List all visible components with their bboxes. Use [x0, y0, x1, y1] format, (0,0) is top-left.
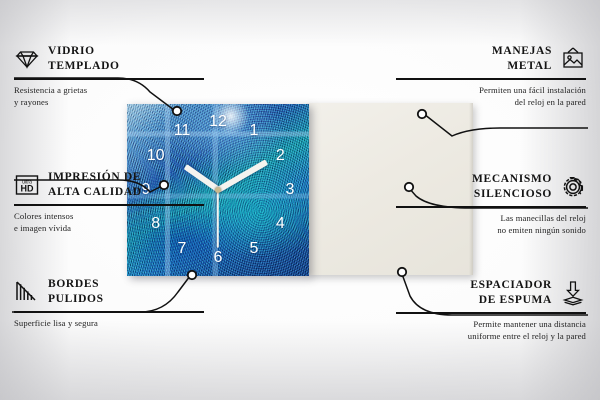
feature-rule	[14, 311, 204, 312]
feature-rule	[396, 312, 586, 313]
diagonal-stripes-icon	[14, 279, 40, 305]
feature-impresion-alta-calidad: ultra HD IMPRESIÓN DE ALTA CALIDAD Color…	[14, 170, 204, 234]
feature-description: Las manecillas del reloj no emiten ningú…	[396, 212, 586, 236]
feature-title: ESPACIADOR DE ESPUMA	[470, 278, 552, 308]
feature-title: IMPRESIÓN DE ALTA CALIDAD	[48, 170, 142, 200]
feature-description: Permiten una fácil instalación del reloj…	[396, 84, 586, 108]
feature-vidrio-templado: VIDRIO TEMPLADO Resistencia a grietas y …	[14, 44, 204, 108]
feature-title: BORDES PULIDOS	[48, 277, 104, 307]
feature-manejas-metal: MANEJAS METAL Permiten una fácil instala…	[396, 44, 586, 108]
gear-icon	[560, 174, 586, 200]
feature-rule	[14, 204, 204, 205]
feature-title: MANEJAS METAL	[492, 44, 552, 74]
diamond-icon	[14, 46, 40, 72]
connector-dot-manejas	[418, 110, 426, 118]
ultra-hd-icon: ultra HD	[14, 172, 40, 198]
arrow-down-onto-stack-icon	[560, 280, 586, 306]
feature-rule	[396, 78, 586, 79]
feature-title: MECANISMO SILENCIOSO	[472, 172, 552, 202]
svg-text:HD: HD	[21, 184, 34, 194]
picture-frame-hanging-icon	[560, 46, 586, 72]
feature-description: Resistencia a grietas y rayones	[14, 84, 204, 108]
feature-description: Superficie lisa y segura	[14, 317, 204, 329]
infographic-canvas: 121234567891011	[0, 0, 600, 400]
feature-espaciador-espuma: ESPACIADOR DE ESPUMA Permite mantener un…	[396, 278, 586, 342]
feature-rule	[14, 78, 204, 79]
feature-description: Colores intensos e imagen vívida	[14, 210, 204, 234]
feature-bordes-pulidos: BORDES PULIDOS Superficie lisa y segura	[14, 277, 204, 329]
feature-rule	[396, 206, 586, 207]
connector-dot-espaciador	[398, 268, 406, 276]
feature-description: Permite mantener una distancia uniforme …	[396, 318, 586, 342]
feature-title: VIDRIO TEMPLADO	[48, 44, 120, 74]
feature-mecanismo-silencioso: MECANISMO SILENCIOSO Las manecillas del …	[396, 172, 586, 236]
